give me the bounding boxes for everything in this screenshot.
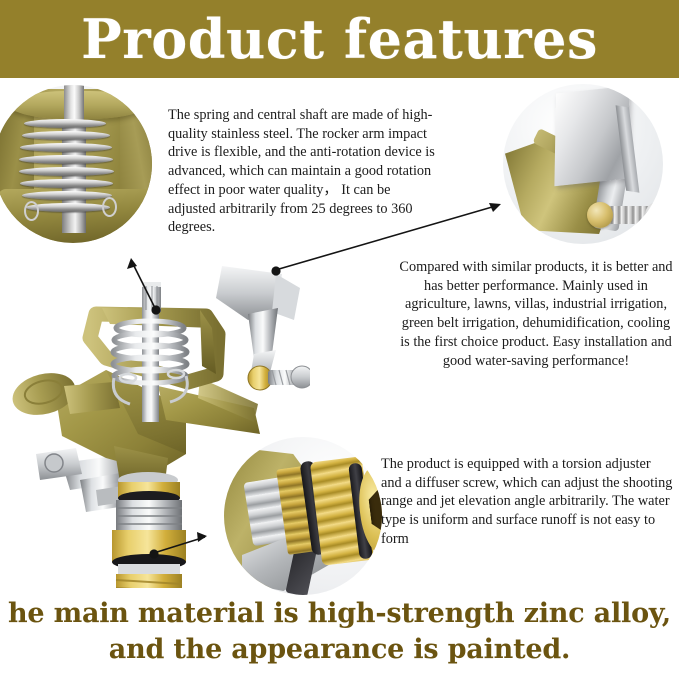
callout-text-torsion-adjuster: The product is equipped with a torsion a… <box>381 455 673 549</box>
brass-threaded-connector <box>112 472 186 588</box>
page-title: Product features <box>81 12 598 66</box>
rocker-arm-and-paddle <box>216 266 310 390</box>
inset-spring-and-central-shaft <box>0 85 152 243</box>
callout-arrow <box>489 203 501 212</box>
deflector-paddle <box>554 86 629 186</box>
central-shaft-tip <box>142 282 161 312</box>
spring-coil <box>20 143 112 152</box>
footer-caption: he main material is high-strength zinc a… <box>0 596 679 667</box>
callout-text-spring-shaft: The spring and central shaft are made of… <box>168 106 436 237</box>
spring-coil <box>22 191 112 200</box>
spring-screw-head <box>587 202 613 228</box>
spring-coil <box>22 131 110 140</box>
product-image-impact-sprinkler <box>10 258 310 588</box>
spring-coil <box>24 119 106 128</box>
header-banner: Product features <box>0 0 679 78</box>
anti-rotation-hook <box>24 201 39 221</box>
spring-coil <box>19 167 114 176</box>
anti-rotation-hook <box>102 197 117 217</box>
spring-coil <box>20 179 113 188</box>
inset-rocker-arm-paddle <box>503 84 663 244</box>
callout-text-comparison: Compared with similar products, it is be… <box>398 258 674 370</box>
spring-screw-tip <box>645 202 663 228</box>
spring-coil <box>19 155 113 164</box>
